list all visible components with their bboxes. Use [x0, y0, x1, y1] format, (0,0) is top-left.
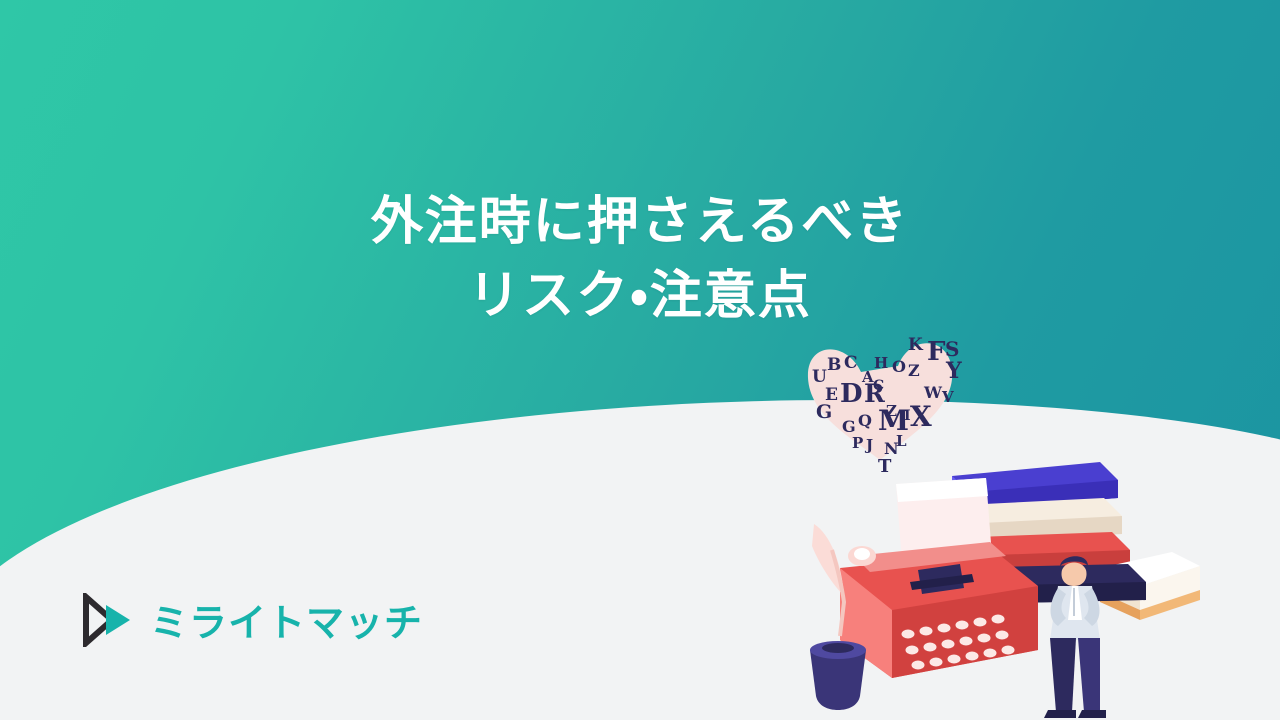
svg-text:P: P	[852, 434, 863, 452]
svg-text:Q: Q	[858, 411, 872, 430]
play-arrow-mark	[82, 593, 140, 647]
title-line-1: 外注時に押さえるべき	[0, 186, 1280, 260]
svg-text:V: V	[941, 388, 954, 406]
typewriter	[840, 542, 1038, 678]
svg-text:C: C	[844, 353, 858, 373]
svg-text:U: U	[812, 367, 827, 387]
logo-text: ミライトマッチ	[150, 592, 423, 647]
page-title: 外注時に押さえるべき リスク・注意点	[0, 186, 1280, 334]
svg-text:X: X	[910, 400, 932, 433]
svg-text:D: D	[840, 379, 863, 409]
svg-text:T: T	[878, 456, 892, 477]
svg-text:Z: Z	[908, 361, 920, 380]
svg-text:H: H	[874, 354, 888, 372]
svg-text:J: J	[864, 436, 873, 454]
slide-canvas: 外注時に押さえるべき リスク・注意点 ミライトマッチ K F S U B C H…	[0, 0, 1280, 720]
svg-text:B: B	[827, 355, 841, 375]
brand-logo: ミライトマッチ	[82, 592, 423, 647]
heart-letter-cloud: K F S U B C H O Z Y A C E D R W V G Z I	[808, 335, 962, 477]
svg-text:Y: Y	[945, 358, 962, 384]
svg-text:F: F	[927, 337, 946, 367]
svg-text:G: G	[816, 401, 832, 423]
svg-text:K: K	[908, 335, 924, 355]
typewriter-books-letters-illustration: K F S U B C H O Z Y A C E D R W V G Z I	[800, 320, 1280, 720]
svg-text:L: L	[896, 432, 907, 450]
svg-text:O: O	[892, 357, 906, 376]
